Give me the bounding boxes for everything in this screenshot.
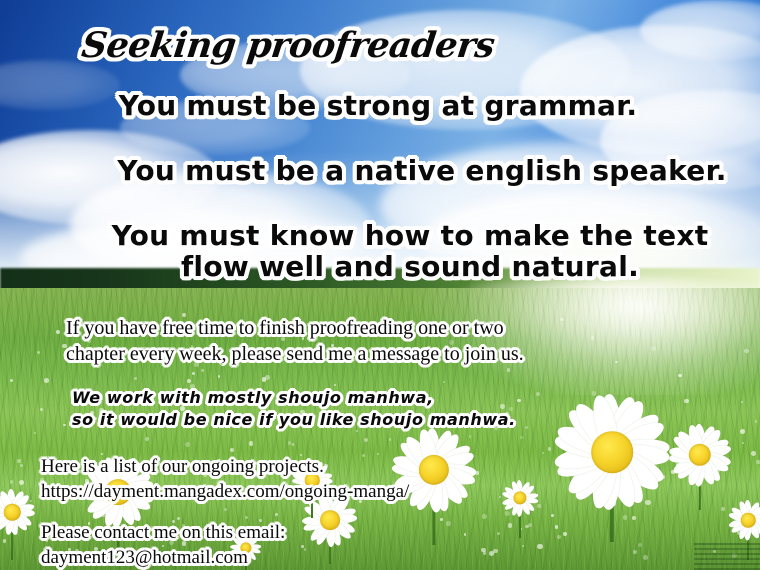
page-title: Seeking proofreaders [0,26,670,67]
contact-email-block[interactable]: Please contact me on this email: dayment… [41,521,285,570]
requirement-line-grammar: You must be strong at grammar. [0,90,758,122]
ongoing-projects-link-block[interactable]: Here is a list of our ongoing projects. … [41,455,409,504]
poster-text-layer: Seeking proofreaders You must be strong … [0,0,760,570]
proofreader-recruitment-poster: Seeking proofreaders You must be strong … [0,0,760,570]
requirement-line-text-flow: You must know how to make the text flow … [30,220,760,283]
genre-note-paragraph: We work with mostly shoujo manhwa, so it… [72,387,516,431]
requirement-line-native-speaker: You must be a native english speaker. [42,155,760,187]
join-instructions-paragraph: If you have free time to finish proofrea… [66,315,524,367]
